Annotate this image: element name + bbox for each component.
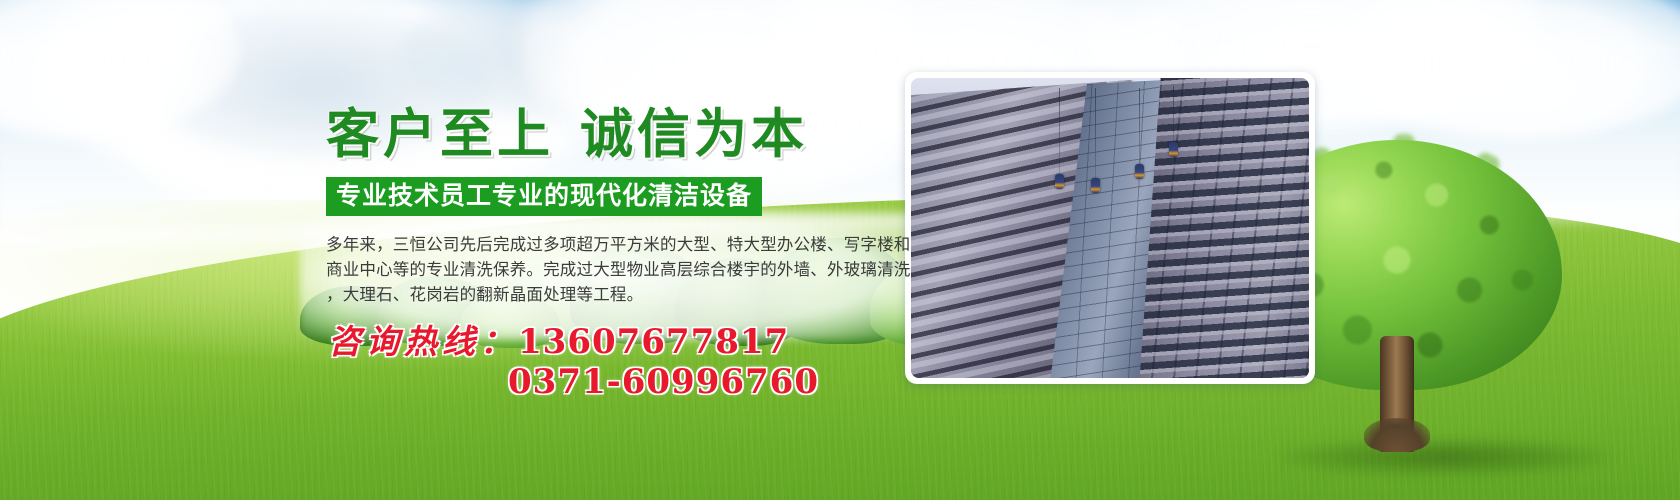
subtitle-text: 专业技术员工专业的现代化清洁设备 (336, 183, 752, 209)
hotline-label: 咨询热线： (328, 322, 518, 361)
photo-worker (1169, 142, 1178, 157)
hotline-row: 咨询热线：13607677817 (328, 322, 789, 362)
photo-worker (1135, 164, 1144, 179)
photo-rope (1059, 88, 1060, 176)
photo-worker (1055, 174, 1064, 189)
description-line-3: ，大理石、花岗岩的翻新晶面处理等工程。 (326, 282, 892, 307)
photo-tower-right-windows (1138, 78, 1309, 378)
tree-trunk (1380, 336, 1414, 452)
description-paragraph: 多年来，三恒公司先后完成过多项超万平方米的大型、特大型办公楼、写字楼和 商业中心… (326, 232, 892, 307)
promotional-banner: 客户至上诚信为本 专业技术员工专业的现代化清洁设备 多年来，三恒公司先后完成过多… (0, 0, 1680, 500)
photo-rope (1139, 88, 1140, 166)
photo-worker (1091, 178, 1100, 193)
headline-part-2: 诚信为本 (580, 103, 808, 165)
page-title: 客户至上诚信为本 (326, 108, 808, 161)
headline-part-1: 客户至上 (326, 103, 554, 165)
photo-rope (1095, 88, 1096, 180)
subtitle-banner: 专业技术员工专业的现代化清洁设备 (326, 177, 762, 216)
hotline-mobile-number[interactable]: 13607677817 (518, 322, 789, 362)
description-line-1: 多年来，三恒公司先后完成过多项超万平方米的大型、特大型办公楼、写字楼和 (326, 232, 892, 257)
hotline-landline-number[interactable]: 0371-60996760 (508, 362, 819, 402)
banner-text-content: 客户至上诚信为本 专业技术员工专业的现代化清洁设备 多年来，三恒公司先后完成过多… (322, 0, 902, 500)
description-line-2: 商业中心等的专业清洗保养。完成过大型物业高层综合楼宇的外墙、外玻璃清洗 (326, 257, 892, 282)
photo-tower-right (1138, 78, 1309, 378)
high-rise-facade-cleaning-photo (911, 78, 1309, 378)
photo-rope (1173, 86, 1174, 144)
building-photo-card[interactable] (905, 72, 1315, 384)
